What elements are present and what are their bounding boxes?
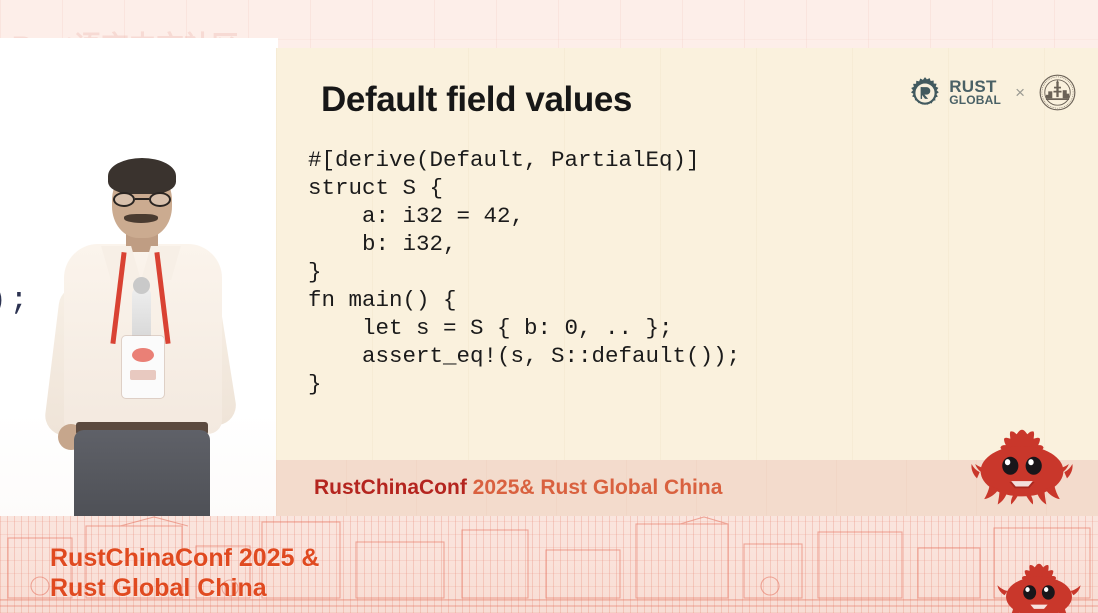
slide-logo-group: RUST GLOBAL × — [908, 74, 1076, 111]
banner-title: RustChinaConf 2025 & Rust Global China — [50, 544, 319, 603]
city-skyline-seal-icon — [1039, 74, 1076, 111]
speaker-video-area: ); — [0, 38, 278, 518]
presentation-slide: Default field values RUST GLOBAL × — [276, 48, 1098, 516]
speaker-hair — [108, 158, 176, 194]
rust-global-logo: RUST GLOBAL — [908, 76, 1001, 110]
speaker-trousers — [74, 430, 210, 518]
rust-gear-icon — [908, 76, 942, 110]
glasses-icon — [113, 192, 171, 207]
projected-code-fragment: ); — [0, 283, 31, 318]
rust-global-wordmark: RUST GLOBAL — [949, 79, 1001, 107]
code-block: #[derive(Default, PartialEq)] struct S {… — [308, 146, 740, 398]
ferris-crab-icon — [968, 418, 1076, 510]
rust-global-line2: GLOBAL — [949, 95, 1001, 106]
speaker-badge — [122, 336, 164, 398]
footer-light-text: 2025& Rust Global China — [473, 476, 723, 499]
bottom-banner: RustChinaConf 2025 & Rust Global China — [0, 516, 1098, 613]
logo-separator: × — [1015, 83, 1025, 103]
speaker-mustache — [124, 214, 158, 223]
slide-title: Default field values — [321, 80, 632, 120]
conference-speaker — [36, 136, 246, 518]
ferris-crab-icon — [996, 551, 1082, 613]
slide-footer-text: RustChinaConf 2025& Rust Global China — [314, 476, 722, 500]
footer-dark-text: RustChinaConf — [314, 476, 473, 499]
